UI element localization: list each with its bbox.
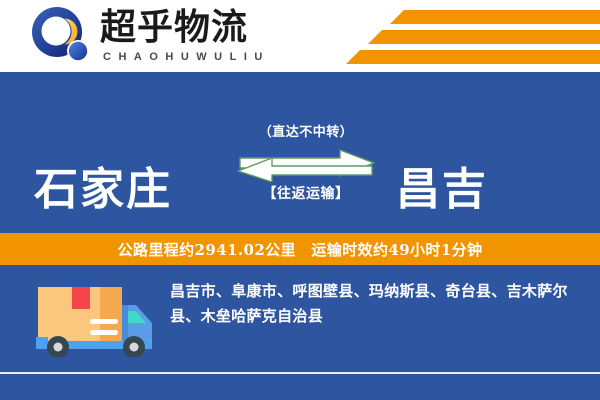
circular-q-logo-icon	[30, 6, 92, 66]
logistics-route-banner: 超乎物流 CHAOHUWULIU 石家庄 （直达不中转） 【往返运输	[0, 0, 600, 400]
brand-logo-block: 超乎物流 CHAOHUWULIU	[30, 6, 270, 66]
route-info-text: 公路里程约2941.02公里 运输时效约49小时1分钟	[118, 239, 483, 260]
decorative-stripes	[330, 8, 600, 68]
origin-city: 石家庄	[34, 165, 172, 215]
stripe-3	[346, 50, 600, 64]
bottom-divider	[0, 372, 600, 374]
coverage-panel: 昌吉市、阜康市、呼图壁县、玛纳斯县、奇台县、吉木萨尔县、木垒哈萨克自治县	[0, 265, 600, 400]
bidirectional-arrow-icon	[232, 146, 380, 182]
stripe-2	[368, 30, 600, 44]
route-tag: 【往返运输】	[232, 184, 380, 204]
route-panel: 石家庄 （直达不中转） 【往返运输】 昌吉	[0, 72, 600, 233]
stripe-1	[390, 10, 600, 24]
route-info-bar: 公路里程约2941.02公里 运输时效约49小时1分钟	[0, 233, 600, 265]
brand-wordmark: 超乎物流 CHAOHUWULIU	[100, 6, 270, 63]
brand-name-en: CHAOHUWULIU	[103, 51, 270, 63]
brand-name-cn: 超乎物流	[100, 8, 270, 48]
route-note: （直达不中转）	[232, 124, 380, 142]
coverage-areas-text: 昌吉市、阜康市、呼图壁县、玛纳斯县、奇台县、吉木萨尔县、木垒哈萨克自治县	[170, 279, 580, 329]
route-middle-block: （直达不中转） 【往返运输】	[232, 124, 380, 204]
delivery-truck-icon	[28, 281, 160, 357]
destination-city: 昌吉	[396, 165, 488, 215]
banner-header: 超乎物流 CHAOHUWULIU	[0, 0, 600, 72]
